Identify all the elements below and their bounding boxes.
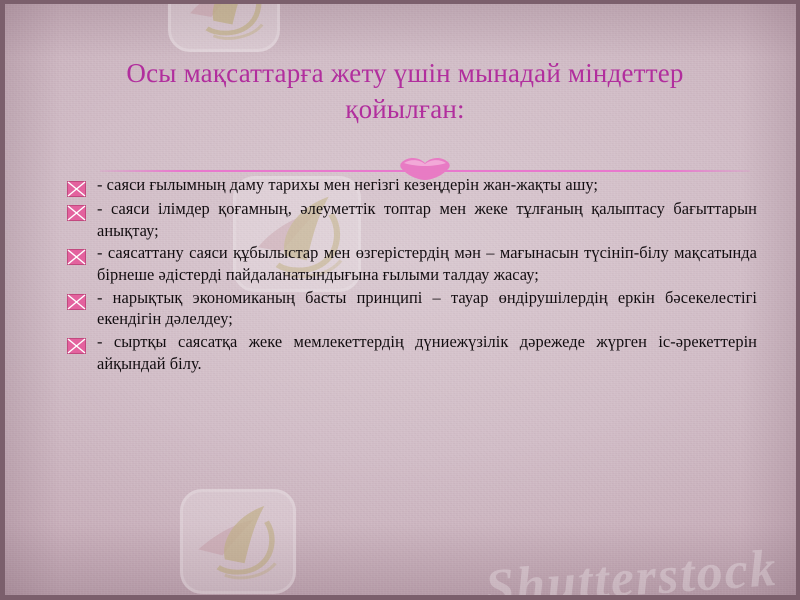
envelope-cross-icon bbox=[67, 249, 86, 265]
list-item-label: - нарықтық экономиканың басты принципі –… bbox=[97, 287, 757, 330]
page-title: Осы мақсаттарға жету үшін мынадай міндет… bbox=[75, 56, 735, 127]
list-item-label: - саяси ғылымның даму тарихы мен негізгі… bbox=[97, 174, 757, 196]
bird-watermark-icon bbox=[180, 489, 296, 594]
list-item-label: - сыртқы саясатқа жеке мемлекеттердің дү… bbox=[97, 331, 757, 374]
presentation-slide: Shutterstock Осы мақсаттарға жету үшін м… bbox=[0, 0, 800, 600]
list-item-label: - саясаттану саяси құбылыстар мен өзгері… bbox=[97, 242, 757, 285]
list-item: - саяси ілімдер қоғамның, әлеуметтік топ… bbox=[67, 198, 757, 241]
bird-watermark-icon bbox=[168, 0, 280, 52]
list-item-label: - саяси ілімдер қоғамның, әлеуметтік топ… bbox=[97, 198, 757, 241]
list-item: - нарықтық экономиканың басты принципі –… bbox=[67, 287, 757, 330]
envelope-cross-icon bbox=[67, 294, 86, 310]
envelope-cross-icon bbox=[67, 181, 86, 197]
list-item: - саяси ғылымның даму тарихы мен негізгі… bbox=[67, 174, 757, 197]
envelope-cross-icon bbox=[67, 205, 86, 221]
objectives-list: - саяси ғылымның даму тарихы мен негізгі… bbox=[67, 174, 757, 375]
list-item: - сыртқы саясатқа жеке мемлекеттердің дү… bbox=[67, 331, 757, 374]
envelope-cross-icon bbox=[67, 338, 86, 354]
list-item: - саясаттану саяси құбылыстар мен өзгері… bbox=[67, 242, 757, 285]
